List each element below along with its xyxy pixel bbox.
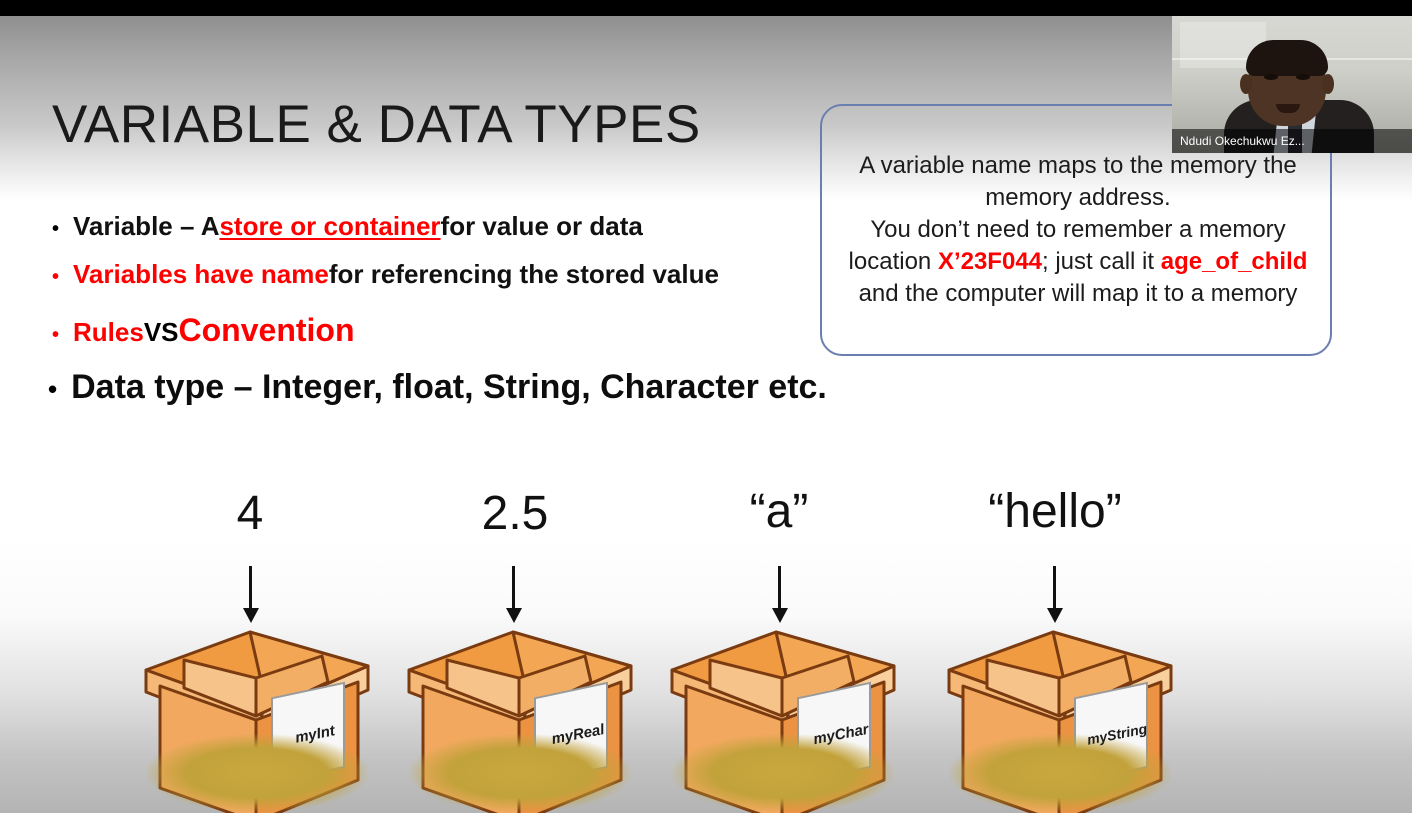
bullet-text-part: for value or data — [441, 211, 643, 242]
box-container-myreal: myReal — [395, 616, 645, 813]
box-shadow — [409, 734, 631, 812]
arrow-shaft-0 — [249, 566, 252, 614]
box-shadow — [949, 734, 1171, 812]
callout-line-4-prefix: location — [849, 248, 938, 275]
box-shadow — [146, 734, 368, 812]
bullet-item-rules-vs-convention: • Rules VS Convention — [52, 312, 355, 349]
speaker-hair — [1246, 40, 1328, 76]
arrow-shaft-3 — [1053, 566, 1056, 614]
letterbox-top-bar — [0, 0, 1412, 16]
callout-line-2: memory address. — [985, 184, 1170, 211]
bullet-text-part: Data type – Integer, float, String, Char… — [71, 368, 827, 407]
speaker-ear-left — [1240, 74, 1252, 94]
bullet-marker: • — [52, 267, 59, 287]
box-value-1: 2.5 — [465, 486, 565, 541]
bullet-text-convention: Convention — [179, 312, 355, 349]
webcam-video-overlay[interactable]: Ndudi Okechukwu Ez... — [1172, 16, 1412, 153]
bullet-marker: • — [52, 325, 59, 345]
callout-line-5: and the computer will map it to a memory — [859, 280, 1298, 307]
callout-line-4-middle: ; just call it — [1042, 248, 1161, 275]
participant-name-label: Ndudi Okechukwu Ez... — [1172, 129, 1412, 153]
bullet-text-rules: Rules — [73, 317, 144, 348]
box-shadow — [672, 734, 894, 812]
bullet-text-vs: VS — [144, 317, 179, 348]
box-value-3: “hello” — [975, 484, 1135, 539]
speaker-eye-left — [1264, 74, 1278, 80]
bullet-text-part: Variable – A — [73, 211, 219, 242]
screen-recording-frame: VARIABLE & DATA TYPES • Variable – A sto… — [0, 0, 1412, 813]
callout-highlight-memory-address: X’23F044 — [938, 248, 1042, 275]
bullet-text-part: for referencing the stored value — [329, 259, 719, 290]
bullet-highlight-store-or-container: store or container — [219, 211, 440, 242]
bullet-marker: • — [48, 376, 57, 402]
bullet-item-data-type: • Data type – Integer, float, String, Ch… — [48, 368, 827, 407]
speaker-eye-right — [1296, 74, 1310, 80]
box-container-myint: myInt — [132, 616, 382, 813]
callout-box-text: A variable name maps to the memory the m… — [828, 150, 1328, 310]
bullet-highlight-variables-have-name: Variables have name — [73, 259, 329, 290]
callout-line-3: You don’t need to remember a memory — [870, 216, 1285, 243]
page-title: VARIABLE & DATA TYPES — [52, 94, 701, 155]
bullet-marker: • — [52, 219, 59, 239]
box-container-mystring: myString — [935, 616, 1185, 813]
box-container-mychar: myChar — [658, 616, 908, 813]
bullet-item-variable: • Variable – A store or container for va… — [52, 211, 643, 242]
callout-highlight-variable-name: age_of_child — [1161, 248, 1308, 275]
bullet-item-variables-have-name: • Variables have name for referencing th… — [52, 259, 719, 290]
box-value-0: 4 — [205, 486, 295, 541]
speaker-ear-right — [1322, 74, 1334, 94]
arrow-shaft-2 — [778, 566, 781, 614]
callout-line-1: A variable name maps to the memory the — [859, 152, 1297, 179]
box-value-2: “a” — [733, 484, 825, 539]
arrow-shaft-1 — [512, 566, 515, 614]
